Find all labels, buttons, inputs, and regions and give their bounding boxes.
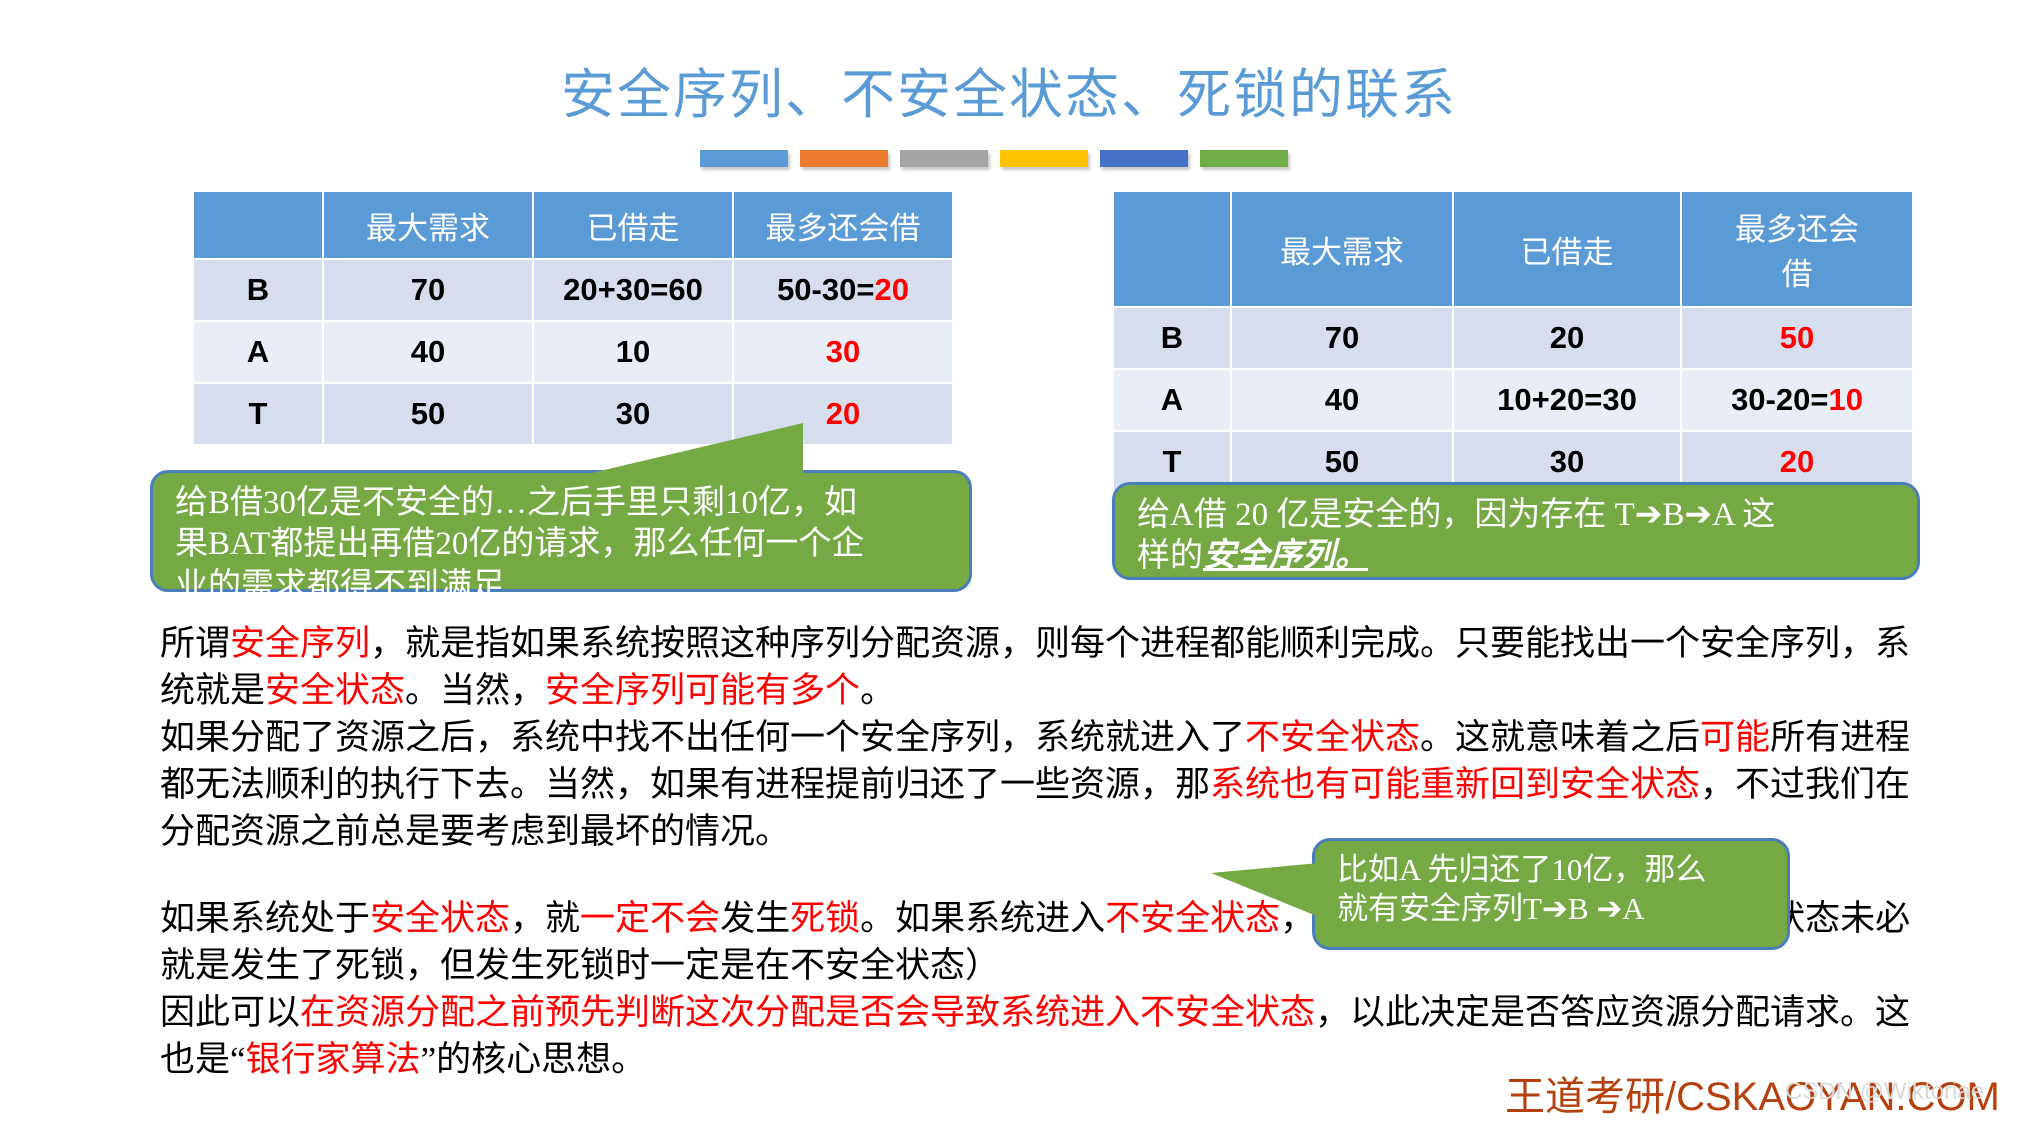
plain-text: ”的核心思想。: [421, 1040, 647, 1079]
callout-tail-icon: [1211, 863, 1319, 917]
cell-max-demand: 40: [323, 321, 533, 383]
accent-bar-5: [1100, 150, 1188, 167]
highlight-text: 安全状态: [370, 899, 510, 938]
cell-remaining: 30-20=10: [1681, 369, 1913, 431]
plain-text: 。如果系统进入: [860, 899, 1105, 938]
paragraph-4: 因此可以在资源分配之前预先判断这次分配是否会导致系统进入不安全状态，以此决定是否…: [160, 989, 1920, 1083]
accent-bar-group: [700, 150, 1288, 167]
callout-unsafe-explanation: 给B借30亿是不安全的…之后手里只剩10亿，如 果BAT都提出再借20亿的请求，…: [150, 470, 972, 592]
plain-text: 如果分配了资源之后，系统中找不出任何一个安全序列，系统就进入了: [160, 718, 1245, 757]
cell-remaining: 50: [1681, 307, 1913, 369]
cell-borrowed: 20+30=60: [533, 259, 733, 321]
header-cell-remaining: 最多还会借: [733, 191, 953, 259]
cell-remaining: 30: [733, 321, 953, 383]
header-remaining-line2: 借: [1782, 257, 1813, 292]
cell-borrowed: 20: [1453, 307, 1681, 369]
plain-text: 如果系统处于: [160, 899, 370, 938]
accent-bar-2: [800, 150, 888, 167]
table-row: B 70 20+30=60 50-30=20: [193, 259, 953, 321]
header-cell-borrowed: 已借走: [1453, 191, 1681, 307]
highlight-text: 安全序列: [230, 624, 370, 663]
slide-canvas: 安全序列、不安全状态、死锁的联系 最大需求 已借走 最多还会借 B 70 20+…: [0, 0, 2018, 1126]
header-cell-max-demand: 最大需求: [323, 191, 533, 259]
plain-text: 。这就意味着之后: [1420, 718, 1700, 757]
cell-remaining: 50-30=20: [733, 259, 953, 321]
page-title: 安全序列、不安全状态、死锁的联系: [0, 50, 2018, 129]
resource-table-left: 最大需求 已借走 最多还会借 B 70 20+30=60 50-30=20 A …: [192, 190, 954, 446]
callout-line-2: 样的安全序列。: [1137, 536, 1899, 577]
cell-process-name: B: [193, 259, 323, 321]
callout-line-3: 业的需求都得不到满足…: [175, 566, 951, 607]
paragraph-1: 所谓安全序列，就是指如果系统按照这种序列分配资源，则每个进程都能顺利完成。只要能…: [160, 620, 1920, 714]
header-cell-blank: [1113, 191, 1231, 307]
callout-line-1: 给B借30亿是不安全的…之后手里只剩10亿，如: [175, 483, 951, 524]
paragraph-2: 如果分配了资源之后，系统中找不出任何一个安全序列，系统就进入了不安全状态。这就意…: [160, 714, 1920, 855]
cell-max-demand: 70: [1231, 307, 1453, 369]
cell-remaining-value: 10: [1828, 382, 1862, 417]
highlight-text: 死锁: [790, 899, 860, 938]
highlight-text: 银行家算法: [246, 1040, 421, 1079]
cell-remaining-value: 20: [1780, 444, 1814, 479]
cell-remaining-value: 30: [826, 334, 860, 369]
table-row: B 70 20 50: [1113, 307, 1913, 369]
highlight-text: 不安全状态: [1245, 718, 1420, 757]
header-cell-blank: [193, 191, 323, 259]
accent-bar-6: [1200, 150, 1288, 167]
plain-text: 所谓: [160, 624, 230, 663]
highlight-text: 可能: [1700, 718, 1770, 757]
callout-tail-icon: [583, 423, 803, 475]
cell-borrowed: 10+20=30: [1453, 369, 1681, 431]
header-cell-max-demand: 最大需求: [1231, 191, 1453, 307]
callout-line-2-prefix: 样的: [1137, 538, 1203, 574]
cell-max-demand: 40: [1231, 369, 1453, 431]
highlight-text: 在资源分配之前预先判断这次分配是否会导致系统进入不安全状态: [300, 993, 1315, 1032]
callout-line-1: 给A借 20 亿是安全的，因为存在 T➔B➔A 这: [1137, 495, 1899, 536]
cell-process-name: B: [1113, 307, 1231, 369]
cell-remaining-value: 50: [1780, 320, 1814, 355]
callout-return-example: 比如A 先归还了10亿，那么 就有安全序列T➔B ➔A: [1312, 838, 1790, 950]
cell-process-name: A: [1113, 369, 1231, 431]
header-remaining-line1: 最多还会: [1735, 212, 1859, 247]
header-cell-borrowed: 已借走: [533, 191, 733, 259]
accent-bar-1: [700, 150, 788, 167]
cell-process-name: T: [193, 383, 323, 445]
cell-process-name: A: [193, 321, 323, 383]
plain-text: ，就: [510, 899, 580, 938]
header-cell-remaining: 最多还会借: [1681, 191, 1913, 307]
plain-text: 因此可以: [160, 993, 300, 1032]
callout-line-1: 比如A 先归还了10亿，那么: [1337, 851, 1769, 890]
highlight-text: 一定不会: [580, 899, 720, 938]
table-header-row: 最大需求 已借走 最多还会借: [1113, 191, 1913, 307]
table-row: A 40 10 30: [193, 321, 953, 383]
callout-safe-sequence-emphasis: 安全序列。: [1203, 538, 1368, 574]
highlight-text: 安全状态: [265, 671, 405, 710]
cell-max-demand: 70: [323, 259, 533, 321]
cell-remaining-prefix: 50-30=: [777, 272, 874, 307]
table-row: T 50 30 20: [193, 383, 953, 445]
plain-text: 。当然，: [405, 671, 545, 710]
plain-text: 。: [860, 671, 895, 710]
callout-line-2: 就有安全序列T➔B ➔A: [1337, 890, 1769, 929]
resource-table-right: 最大需求 已借走 最多还会借 B 70 20 50 A 40 10+20=30 …: [1112, 190, 1914, 494]
cell-max-demand: 50: [323, 383, 533, 445]
plain-text: 发生: [720, 899, 790, 938]
accent-bar-4: [1000, 150, 1088, 167]
callout-line-2: 果BAT都提出再借20亿的请求，那么任何一个企: [175, 524, 951, 565]
highlight-text: 安全序列可能有多个: [545, 671, 860, 710]
cell-remaining-value: 20: [874, 272, 908, 307]
table-row: A 40 10+20=30 30-20=10: [1113, 369, 1913, 431]
cell-remaining-value: 20: [826, 396, 860, 431]
callout-safe-explanation: 给A借 20 亿是安全的，因为存在 T➔B➔A 这 样的安全序列。: [1112, 482, 1920, 580]
table-header-row: 最大需求 已借走 最多还会借: [193, 191, 953, 259]
cell-borrowed: 10: [533, 321, 733, 383]
accent-bar-3: [900, 150, 988, 167]
highlight-text: 系统也有可能重新回到安全状态: [1210, 765, 1700, 804]
cell-remaining-prefix: 30-20=: [1731, 382, 1828, 417]
